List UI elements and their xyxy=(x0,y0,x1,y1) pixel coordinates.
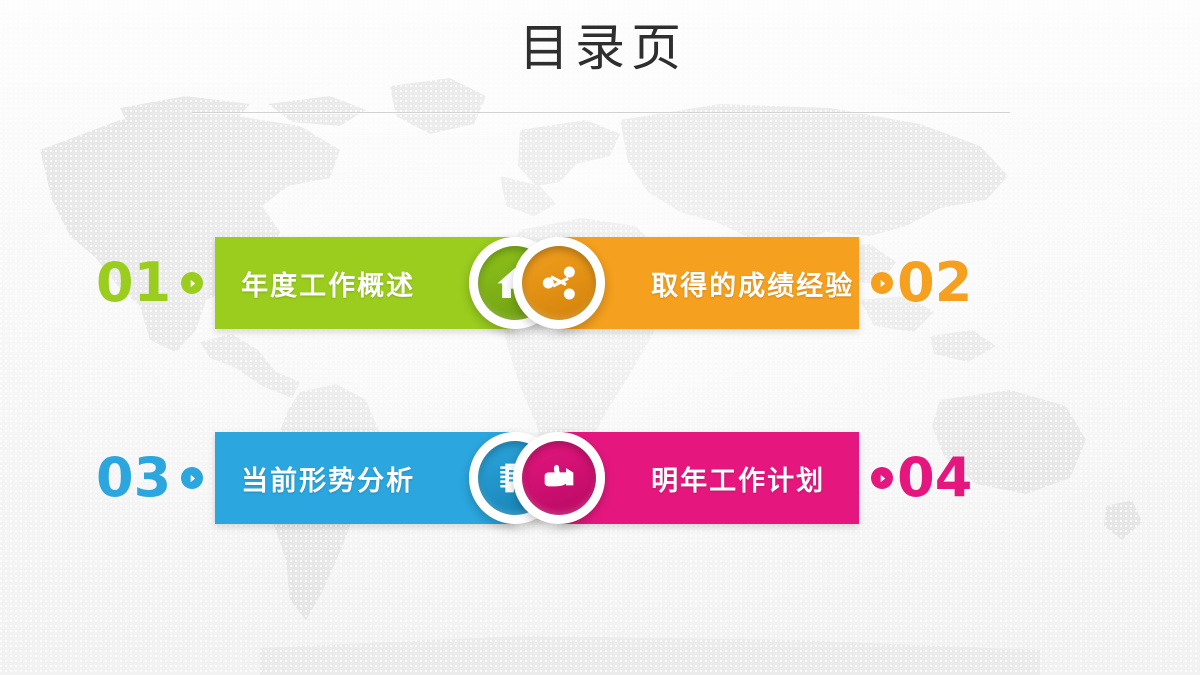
index-group-01: 01 xyxy=(96,256,203,310)
page-title: 目录页 xyxy=(0,22,1200,75)
toc-label-03: 当前形势分析 xyxy=(241,459,415,498)
toc-bar-02[interactable]: 取得的成绩经验 xyxy=(559,237,859,329)
toc-item-04[interactable]: 明年工作计划 04 xyxy=(559,413,972,543)
index-group-02: 02 xyxy=(871,256,972,310)
toc-bar-03[interactable]: 当前形势分析 xyxy=(215,432,515,524)
toc-item-01[interactable]: 01 年度工作概述 xyxy=(96,218,515,348)
toc-row-2: 03 当前形势分析 xyxy=(0,413,1200,543)
toc-item-03[interactable]: 03 当前形势分析 xyxy=(96,413,515,543)
toc-label-02: 取得的成绩经验 xyxy=(651,264,854,303)
title-divider xyxy=(192,112,1010,113)
index-number-04: 04 xyxy=(897,451,972,505)
toc-medallion-02[interactable] xyxy=(513,237,605,329)
index-number-01: 01 xyxy=(96,256,171,310)
toc-bar-01[interactable]: 年度工作概述 xyxy=(215,237,515,329)
toc-label-04: 明年工作计划 xyxy=(651,459,825,498)
share-icon xyxy=(522,246,596,320)
thumbs-up-icon xyxy=(522,441,596,515)
toc-medallion-04[interactable] xyxy=(513,432,605,524)
index-number-03: 03 xyxy=(96,451,171,505)
chevron-right-icon xyxy=(871,272,893,294)
index-group-03: 03 xyxy=(96,451,203,505)
toc-label-01: 年度工作概述 xyxy=(241,264,415,303)
chevron-right-icon xyxy=(181,272,203,294)
toc-bar-04[interactable]: 明年工作计划 xyxy=(559,432,859,524)
chevron-right-icon xyxy=(871,467,893,489)
index-number-02: 02 xyxy=(897,256,972,310)
index-group-04: 04 xyxy=(871,451,972,505)
toc-row-1: 01 年度工作概述 xyxy=(0,218,1200,348)
slide-canvas: 目录页 01 年度工作概述 xyxy=(0,0,1200,675)
toc-item-02[interactable]: 取得的成绩经验 02 xyxy=(559,218,972,348)
chevron-right-icon xyxy=(181,467,203,489)
